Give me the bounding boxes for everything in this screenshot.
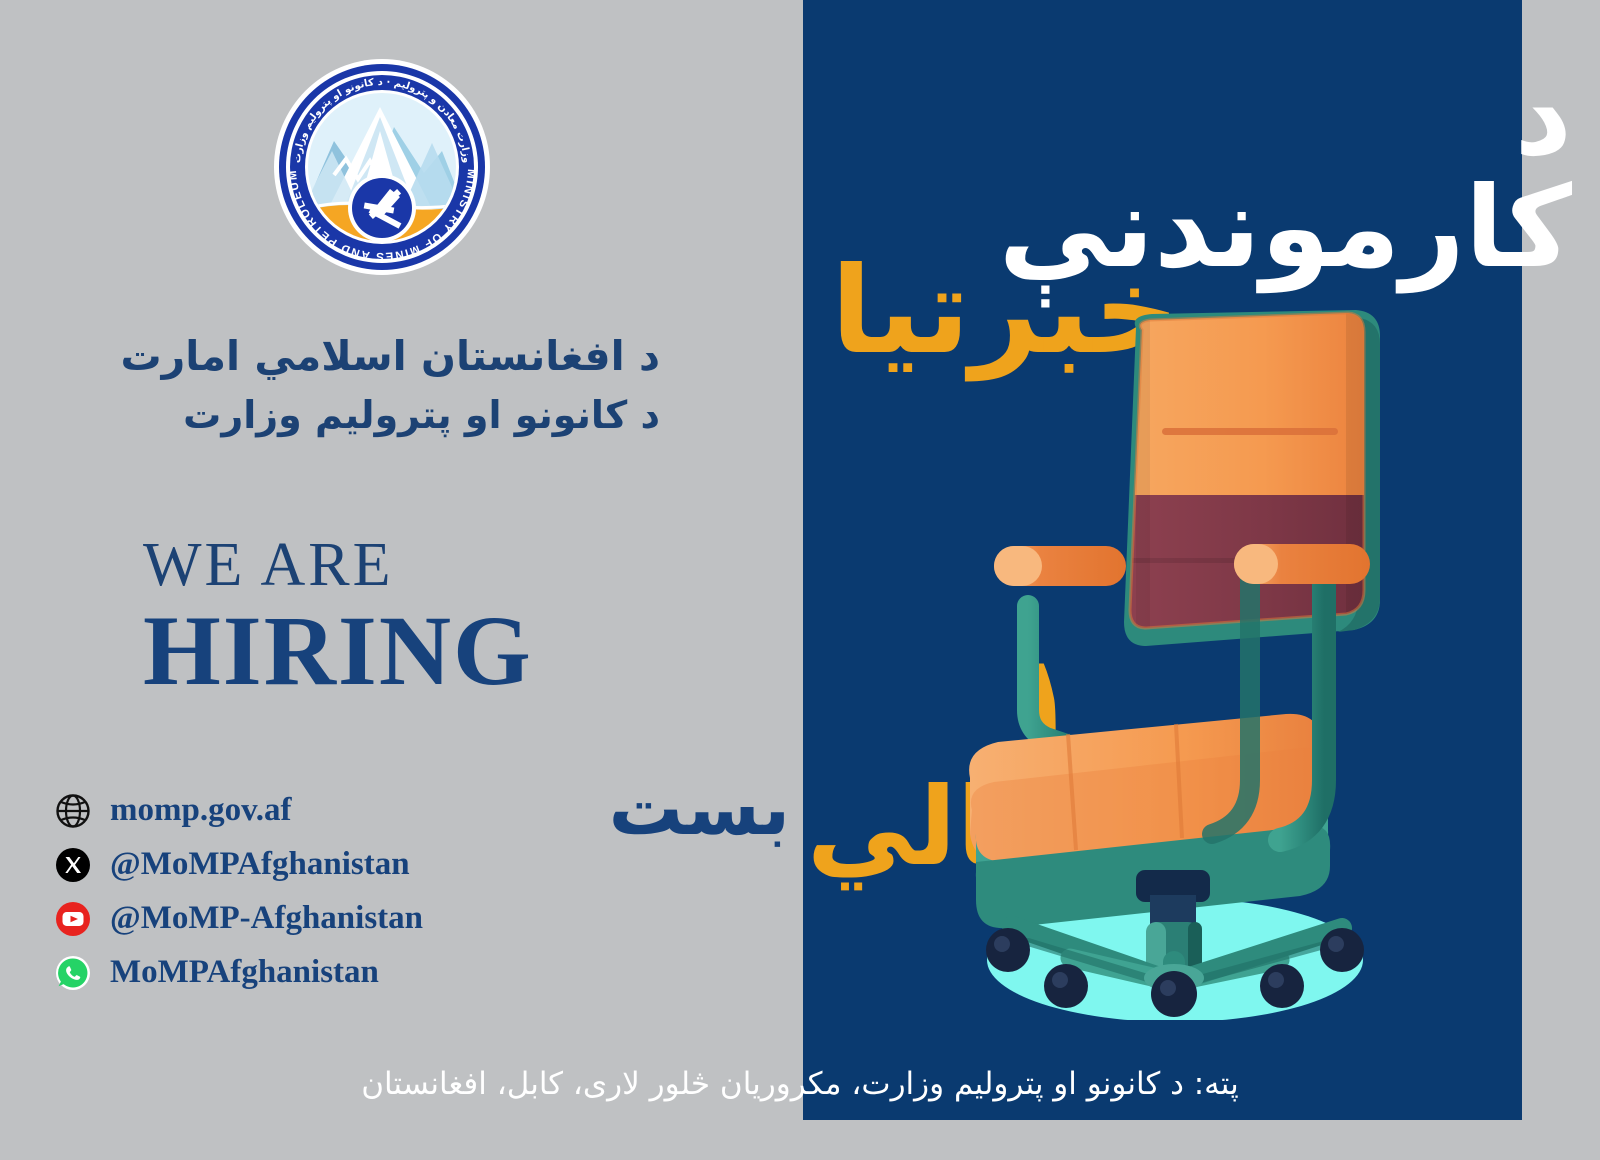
hiring-label: HIRING	[143, 598, 533, 704]
social-links-list: momp.gov.af @MoMPAfghanistan	[55, 785, 423, 1001]
left-column: MINISTRY OF MINES AND PETROLEUM وزارت مع…	[0, 0, 803, 1160]
ministry-emblem: MINISTRY OF MINES AND PETROLEUM وزارت مع…	[272, 55, 492, 280]
social-link-website[interactable]: momp.gov.af	[55, 785, 423, 836]
globe-icon	[55, 793, 91, 829]
vacancy-post-label: بست	[575, 772, 790, 846]
social-link-youtube-label: @MoMP-Afghanistan	[110, 900, 423, 937]
social-link-whatsapp[interactable]: MoMPAfghanistan	[55, 947, 423, 998]
ministry-name-line2: د کانونو او پترولیم وزارت	[0, 387, 660, 443]
address-line: پته: د کانونو او پترولیم وزارت، مکروریان…	[0, 1066, 1600, 1103]
social-link-x-label: @MoMPAfghanistan	[110, 846, 410, 883]
whatsapp-icon	[55, 955, 91, 991]
social-link-whatsapp-label: MoMPAfghanistan	[110, 954, 379, 991]
hiring-heading: WE ARE HIRING	[143, 534, 533, 704]
social-link-website-label: momp.gov.af	[110, 792, 292, 829]
social-link-youtube[interactable]: @MoMP-Afghanistan	[55, 893, 423, 944]
we-are-label: WE ARE	[143, 534, 533, 596]
ministry-name: د افغانستان اسلامي امارت د کانونو او پتر…	[0, 326, 660, 443]
youtube-icon	[55, 901, 91, 937]
ministry-name-line1: د افغانستان اسلامي امارت	[0, 326, 660, 387]
social-link-x[interactable]: @MoMPAfghanistan	[55, 839, 423, 890]
office-chair-illustration	[950, 310, 1400, 1020]
x-twitter-icon	[55, 847, 91, 883]
hiring-poster: MINISTRY OF MINES AND PETROLEUM وزارت مع…	[0, 0, 1600, 1160]
